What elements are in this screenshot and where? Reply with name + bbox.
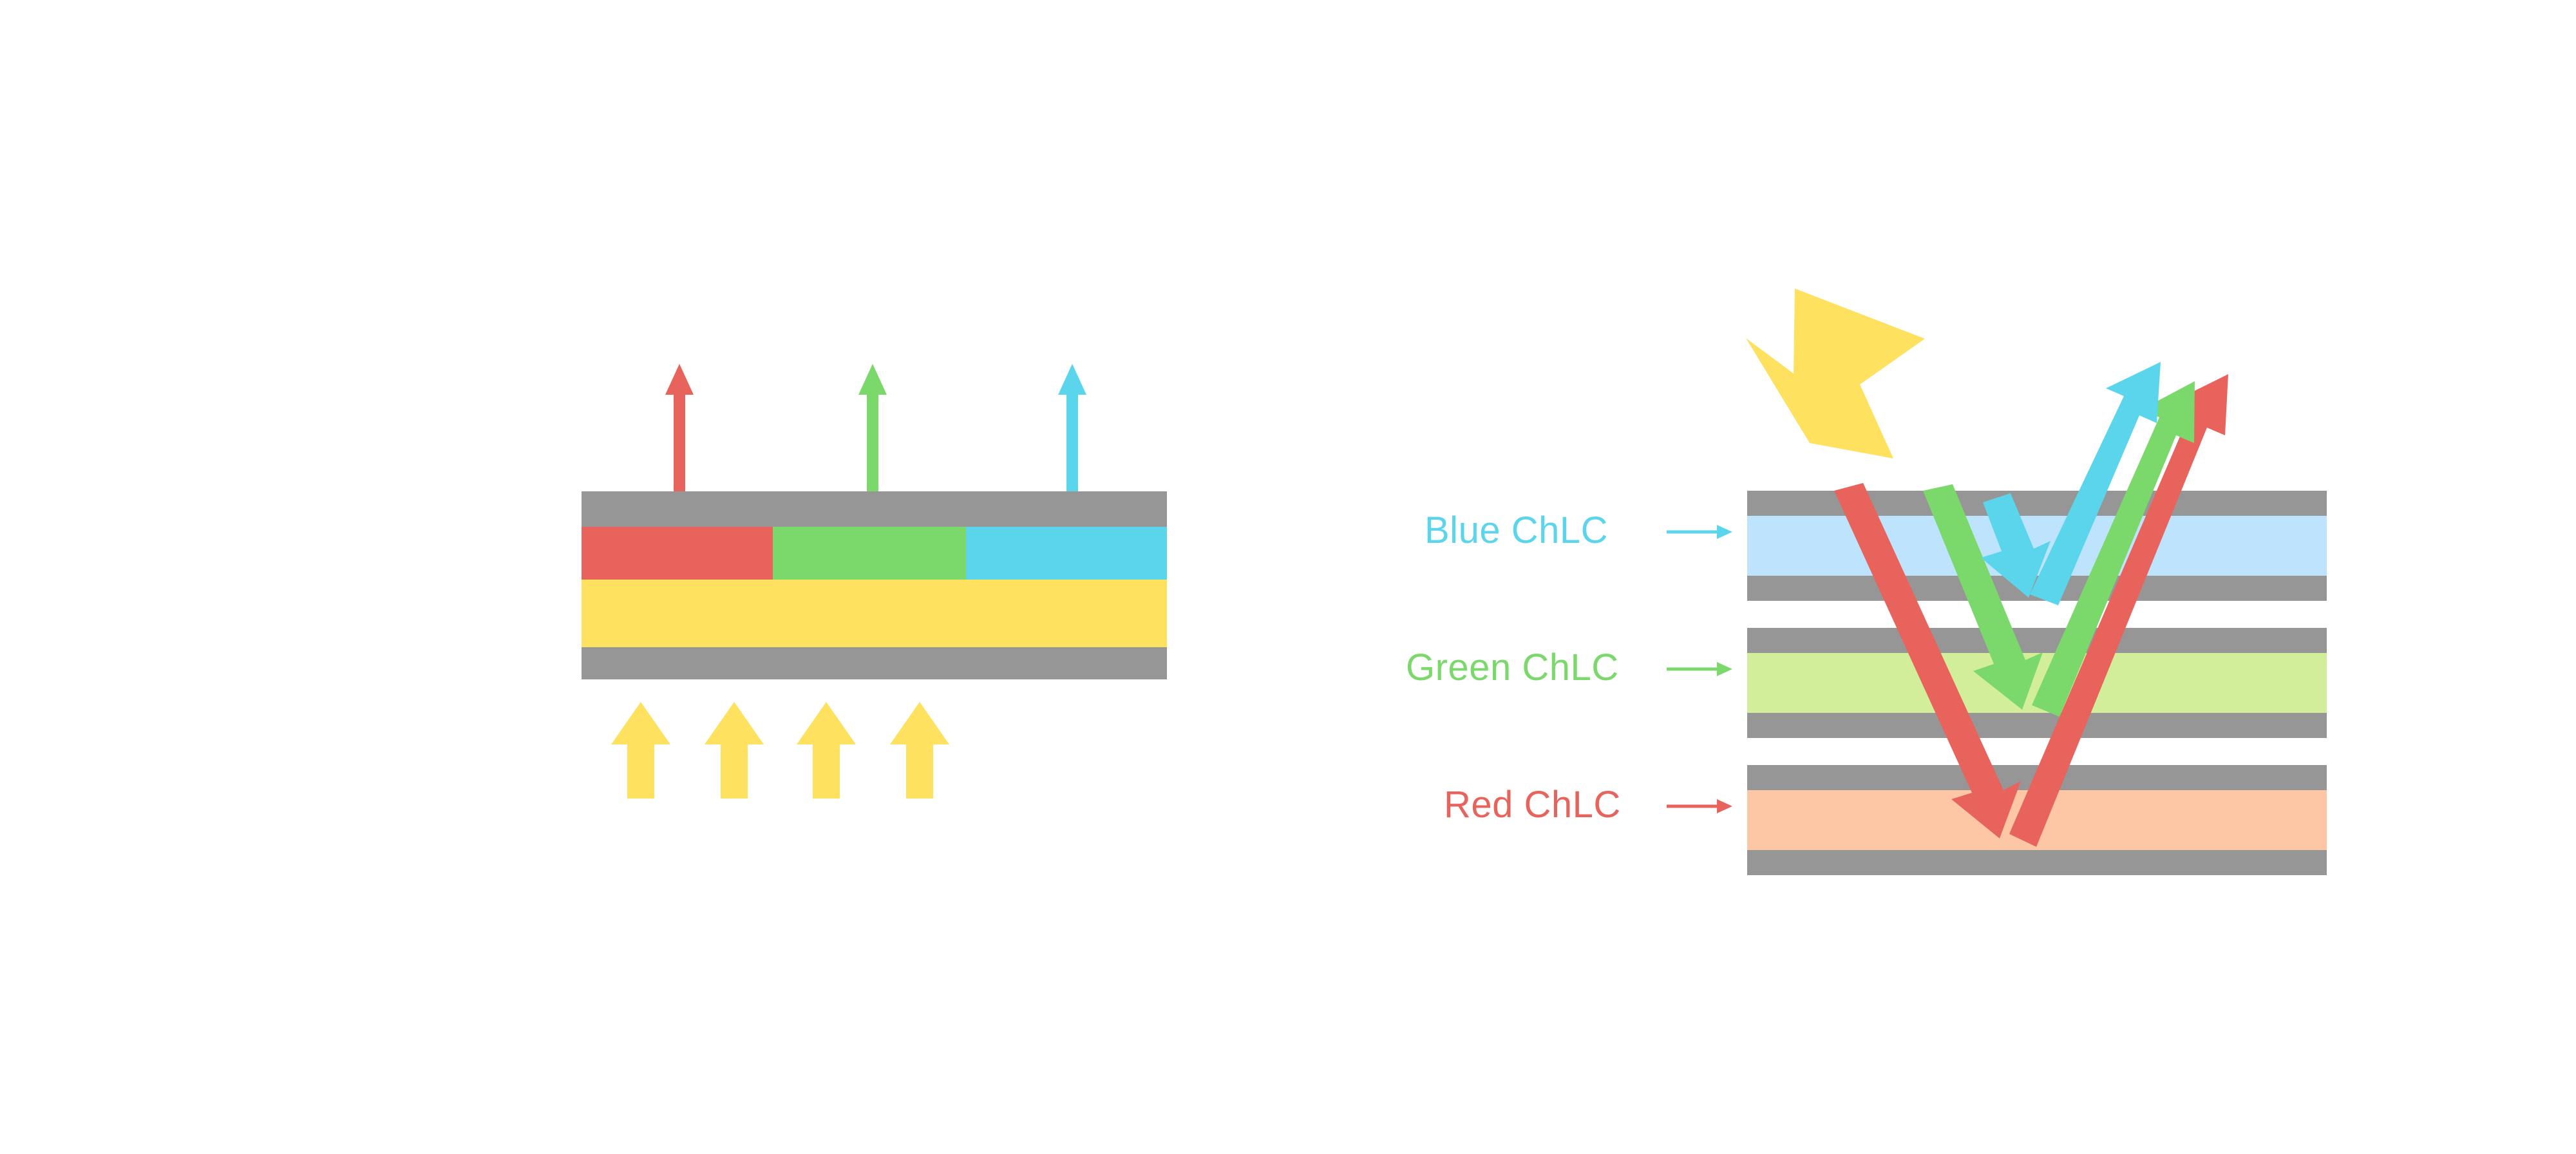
bottom-electrode [582,647,1167,679]
green-label-arrowhead-icon [1717,662,1732,676]
green-chlc-label: Green ChLC [1406,647,1619,688]
white-light-incident-arrow [1746,288,1925,459]
red-label-arrowhead-icon [1717,799,1732,813]
cell-labels-group: Blue ChLC Green ChLC Red ChLC [1406,509,1732,826]
figure-canvas: Blue ChLC Green ChLC Red ChLC [0,0,2576,1154]
diagram-svg: Blue ChLC Green ChLC Red ChLC [0,0,2576,1154]
reflection-panel: Blue ChLC Green ChLC Red ChLC [1406,288,2327,875]
red-cell-bottom-electrode [1747,850,2327,875]
blue-label-arrowhead-icon [1717,525,1732,539]
emissive-stack [582,491,1167,679]
yellow-emissive-layer [582,580,1167,647]
blue-cell-top-electrode [1747,491,2327,516]
red-filter [582,527,773,580]
green-cell-bottom-electrode [1747,713,2327,738]
backlight-arrow-4 [890,702,949,799]
emission-panel [582,364,1167,799]
red-chlc-label: Red ChLC [1444,784,1621,826]
green-cell-top-electrode [1747,628,2327,653]
green-chlc-cell [1747,628,2327,738]
backlight-arrow-1 [611,702,670,799]
top-electrode [582,491,1167,527]
blue-filter [966,527,1167,580]
backlight-arrows-group [611,702,949,799]
backlight-arrow-2 [705,702,764,799]
green-filter [773,527,966,580]
blue-chlc-label: Blue ChLC [1425,509,1608,551]
backlight-arrow-3 [797,702,856,799]
